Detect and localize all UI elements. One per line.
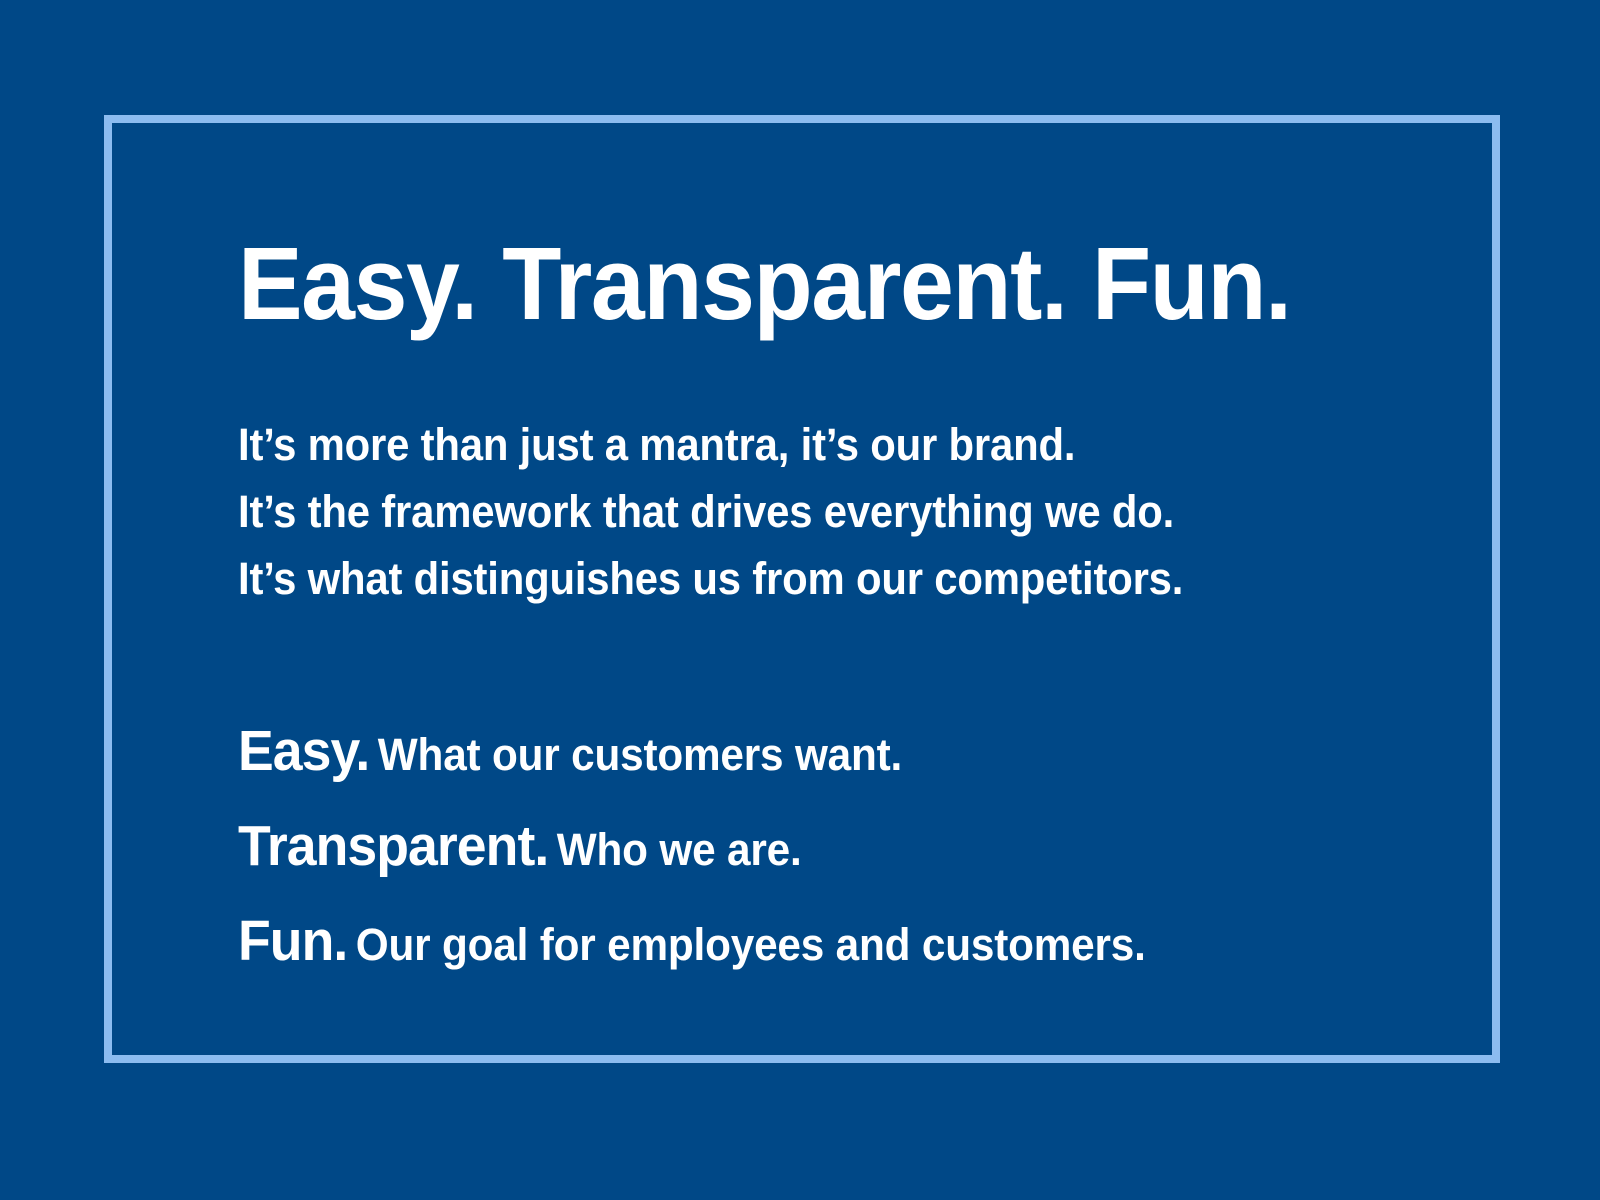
definition-term: Fun.: [238, 909, 347, 973]
intro-paragraph: It’s more than just a mantra, it’s our b…: [238, 335, 1398, 612]
definition-item-easy: Easy.What our customers want.: [238, 711, 1328, 806]
definition-item-fun: Fun.Our goal for employees and customers…: [238, 901, 1328, 996]
brand-mantra-slide: Easy. Transparent. Fun. It’s more than j…: [0, 0, 1600, 1200]
definition-description: Who we are.: [548, 824, 801, 875]
definitions-list: Easy.What our customers want. Transparen…: [238, 612, 1398, 996]
definition-term: Easy.: [238, 719, 369, 783]
definition-term: Transparent.: [238, 814, 548, 878]
slide-content: Easy. Transparent. Fun. It’s more than j…: [238, 232, 1398, 996]
definition-item-transparent: Transparent.Who we are.: [238, 806, 1328, 901]
definition-description: What our customers want.: [369, 729, 902, 780]
intro-line: It’s more than just a mantra, it’s our b…: [238, 411, 1317, 478]
intro-line: It’s the framework that drives everythin…: [238, 478, 1317, 545]
definition-description: Our goal for employees and customers.: [347, 919, 1145, 970]
slide-headline: Easy. Transparent. Fun.: [238, 232, 1328, 335]
intro-line: It’s what distinguishes us from our comp…: [238, 545, 1317, 612]
